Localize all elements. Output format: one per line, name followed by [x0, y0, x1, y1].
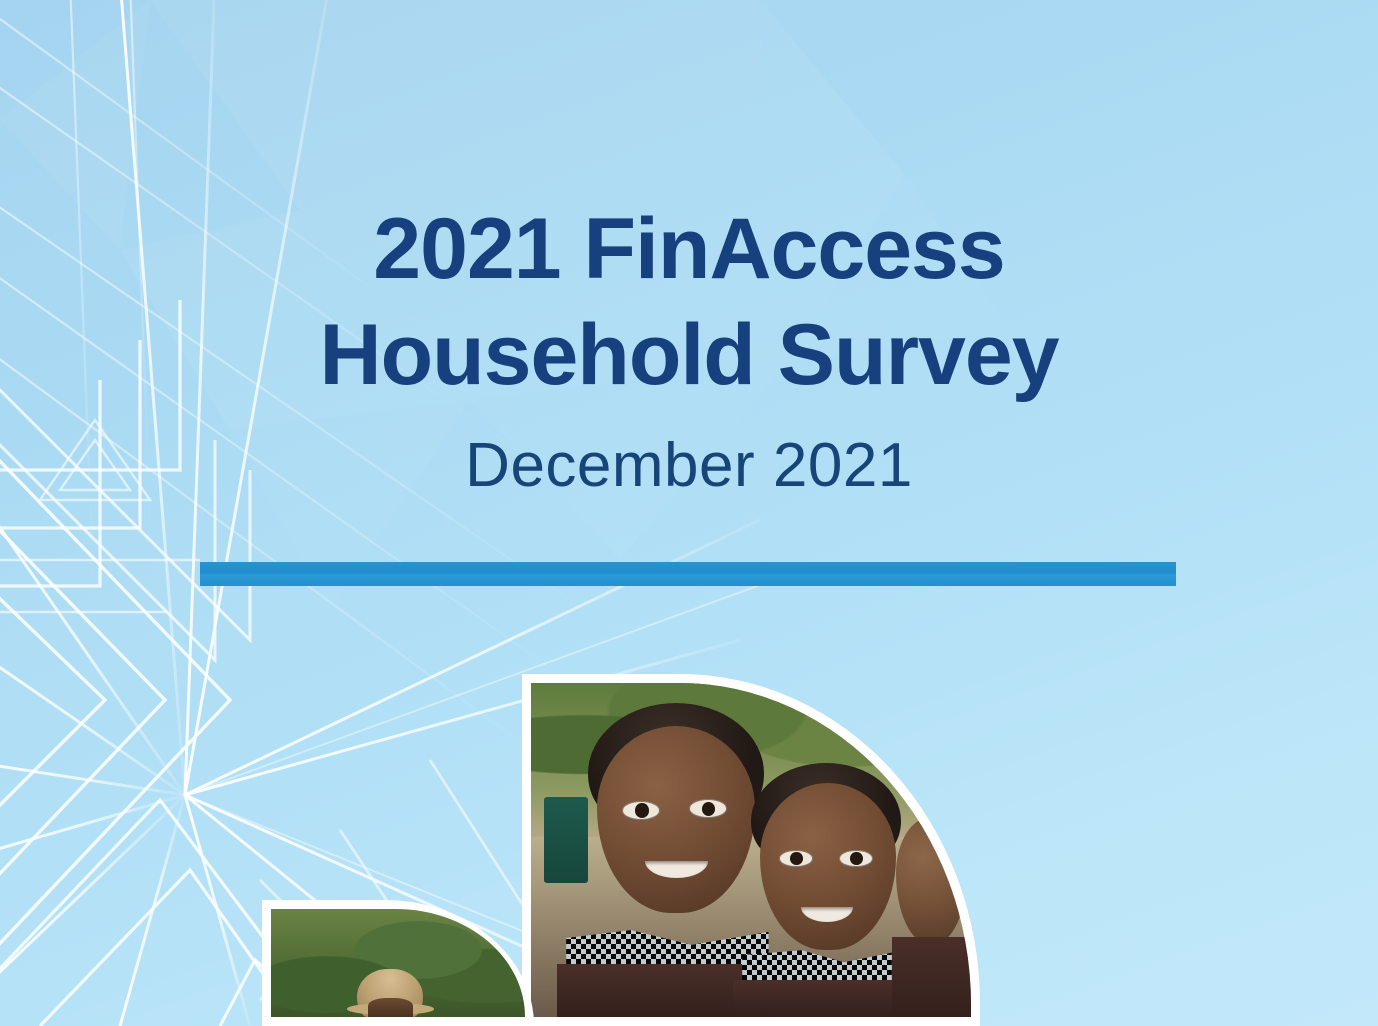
cover-title-block: 2021 FinAccess Household Survey December…	[0, 196, 1378, 502]
child-right-eye-left	[779, 850, 813, 867]
cover-photo-field-image	[271, 909, 525, 1017]
child-back-face	[896, 817, 966, 944]
report-cover-page: 2021 FinAccess Household Survey December…	[0, 0, 1378, 1026]
title-line-2: Household Survey	[0, 302, 1378, 408]
child-right-eye-right	[839, 850, 873, 867]
cover-photo-children-image	[531, 683, 971, 1017]
field-person-silhouette	[368, 998, 414, 1017]
child-right-face	[760, 783, 896, 950]
title-line-1: 2021 FinAccess	[0, 196, 1378, 302]
child-back-uniform	[892, 937, 971, 1017]
cover-subtitle-date: December 2021	[0, 430, 1378, 502]
cover-photo-children	[522, 674, 980, 1026]
child-left-eye-left	[622, 801, 660, 820]
child-right-uniform	[733, 980, 909, 1017]
title-divider-rule	[200, 562, 1176, 586]
cover-photo-field	[262, 900, 534, 1026]
child-left-eye-right	[689, 799, 727, 818]
photo-background-bin	[544, 797, 588, 884]
child-right-smile	[801, 907, 853, 922]
child-left-smile	[645, 861, 708, 878]
child-left-face	[597, 726, 755, 913]
